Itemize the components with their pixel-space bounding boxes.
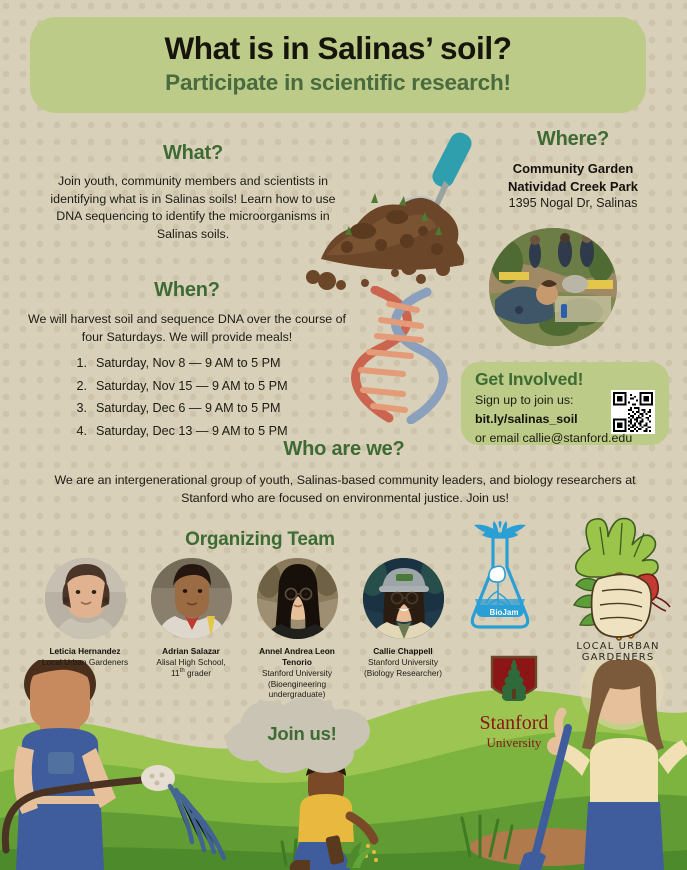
when-date-list: 1. Saturday, Nov 8 — 9 AM to 5 PM 2. Sat… (22, 357, 352, 437)
biojam-label: BioJam (490, 608, 519, 617)
team-member-name: Adrian Salazar (138, 646, 244, 657)
when-section: When? We will harvest soil and sequence … (22, 279, 352, 448)
what-section: What? Join youth, community members and … (48, 142, 338, 243)
who-are-we-heading: Who are we? (249, 438, 439, 461)
when-heading: When? (22, 279, 352, 302)
list-item-label: Saturday, Nov 8 — 9 AM to 5 PM (96, 357, 281, 370)
list-item-label: Saturday, Dec 6 — 9 AM to 5 PM (96, 402, 281, 415)
page-title: What is in Salinas’ soil? (30, 30, 646, 67)
join-us-text: Join us! (222, 723, 382, 745)
where-section: Where? Community Garden Natividad Creek … (478, 128, 668, 210)
list-item: 3. Saturday, Dec 6 — 9 AM to 5 PM (74, 402, 352, 415)
community-garden-photo (489, 228, 617, 346)
list-item-label: Saturday, Dec 13 — 9 AM to 5 PM (96, 425, 288, 438)
team-member: Callie Chappell Stanford University (Bio… (350, 558, 456, 700)
where-address: 1395 Nogal Dr, Salinas (478, 196, 668, 210)
list-item-number: 4. (74, 425, 87, 438)
list-item-number: 3. (74, 402, 87, 415)
when-body: We will harvest soil and sequence DNA ov… (22, 311, 352, 346)
avatar (151, 558, 232, 639)
get-involved-box: Get Involved! Sign up to join us: bit.ly… (461, 362, 669, 445)
local-urban-gardeners-logo (570, 515, 674, 660)
dna-helix-illustration (341, 286, 457, 424)
team-member: Leticia Hernandez Local Urban Gardeners (32, 558, 138, 700)
team-member: Adrian Salazar Alisal High School, 11th … (138, 558, 244, 700)
stanford-wordmark: Stanford (458, 712, 570, 735)
team-member: Annel Andrea Leon Tenorio Stanford Unive… (244, 558, 350, 700)
avatar (363, 558, 444, 639)
biojam-logo: BioJam (463, 521, 537, 639)
who-are-we-body: We are an intergenerational group of you… (45, 472, 645, 507)
header-banner: What is in Salinas’ soil? Participate in… (30, 17, 646, 113)
team-member-affiliation: Stanford University (244, 668, 350, 679)
team-member-grade: 11th grader (138, 668, 244, 679)
team-member-role: (Biology Researcher) (350, 668, 456, 679)
stanford-unit: University (458, 735, 570, 751)
page-subtitle: Participate in scientific research! (30, 70, 646, 96)
list-item: 4. Saturday, Dec 13 — 9 AM to 5 PM (74, 425, 352, 438)
organizing-team-heading: Organizing Team (125, 529, 395, 551)
what-heading: What? (48, 142, 338, 165)
team-member-affiliation: Stanford University (350, 657, 456, 668)
where-heading: Where? (478, 128, 668, 151)
list-item-label: Saturday, Nov 15 — 9 AM to 5 PM (96, 380, 288, 393)
team-member-name: Leticia Hernandez (32, 646, 138, 657)
avatar (45, 558, 126, 639)
poster-root: What is in Salinas’ soil? Participate in… (0, 0, 687, 870)
avatar (257, 558, 338, 639)
list-item-number: 2. (74, 380, 87, 393)
team-member-affiliation: Alisal High School, (138, 657, 244, 668)
list-item: 1. Saturday, Nov 8 — 9 AM to 5 PM (74, 357, 352, 370)
stanford-logo: Stanford University (458, 653, 570, 751)
organizing-team-row: Leticia Hernandez Local Urban Gardeners … (32, 558, 457, 700)
list-item-number: 1. (74, 357, 87, 370)
list-item: 2. Saturday, Nov 15 — 9 AM to 5 PM (74, 380, 352, 393)
stanford-tree-icon (488, 653, 540, 705)
qr-code-icon[interactable] (611, 390, 655, 434)
team-member-affiliation: Local Urban Gardeners (32, 657, 138, 668)
team-member-name: Annel Andrea Leon Tenorio (244, 646, 350, 668)
get-involved-title: Get Involved! (475, 369, 669, 390)
where-park: Natividad Creek Park (478, 178, 668, 196)
where-venue: Community Garden (478, 160, 668, 178)
team-member-name: Callie Chappell (350, 646, 456, 657)
what-body: Join youth, community members and scient… (48, 173, 338, 243)
